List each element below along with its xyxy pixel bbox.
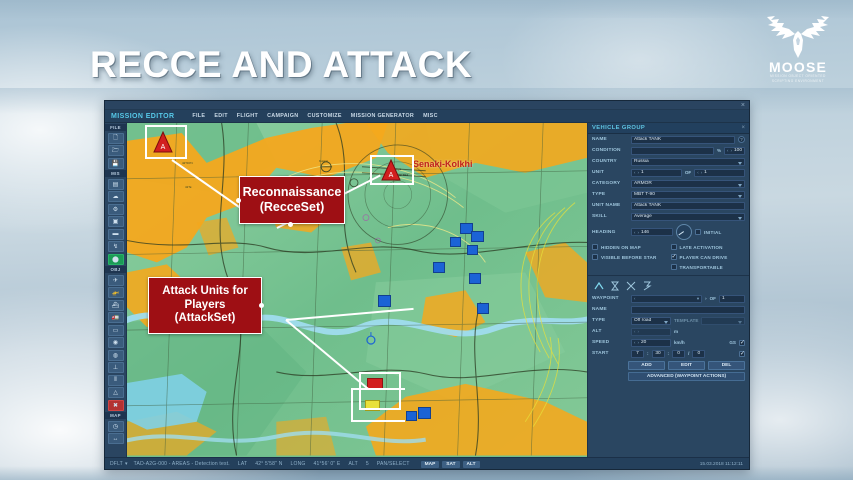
callout-attack-line-3: (AttackSet) xyxy=(175,312,236,326)
checkbox-player-can-drive[interactable] xyxy=(671,254,677,260)
map-grid-label-2: 41°E xyxy=(185,185,192,189)
app-brand-label: MISSION EDITOR xyxy=(111,113,174,120)
label-unit-of: OF xyxy=(685,170,691,175)
value-unit-index: 1 xyxy=(641,170,644,175)
remove-icon[interactable]: ✖ xyxy=(108,400,124,411)
del-button[interactable]: DEL xyxy=(708,361,745,370)
callout-recce-anchor-left xyxy=(236,198,241,203)
menu-bar: MISSION EDITOR FILE EDIT FLIGHT CAMPAIGN… xyxy=(105,110,749,123)
spinner-waypoint[interactable]: ‹ ▾ xyxy=(631,295,702,303)
unit-marker-blue-4[interactable] xyxy=(467,245,478,255)
select-country[interactable]: Russia xyxy=(631,158,745,166)
label-hidden-on-map: HIDDEN ON MAP xyxy=(601,245,641,250)
speed-right-arrow-icon[interactable]: › xyxy=(637,340,638,345)
field-row-condition: CONDITION % ‹ › 100 xyxy=(588,145,749,156)
label-waypoint-speed: SPEED xyxy=(592,340,628,345)
status-alt-value: 5 xyxy=(366,461,369,467)
slide-title: RECCE AND ATTACK xyxy=(90,44,472,86)
field-row-waypoint-start: START 7 : 30 : 0 / 0 xyxy=(588,348,749,359)
unit-total-right-arrow-icon[interactable]: › xyxy=(701,170,702,175)
select-type[interactable]: MBT T-90 xyxy=(631,191,745,199)
edit-button[interactable]: EDIT xyxy=(668,361,705,370)
field-row-waypoint-name: NAME xyxy=(588,304,749,315)
label-name: NAME xyxy=(592,137,628,142)
label-waypoint-start: START xyxy=(592,351,628,356)
svg-text:A: A xyxy=(389,172,394,179)
moose-antler-icon xyxy=(765,14,831,60)
menu-item-edit[interactable]: EDIT xyxy=(214,113,227,119)
spinner-waypoint-alt[interactable]: ‹ › xyxy=(631,328,671,336)
spinner-condition[interactable]: ‹ › 100 xyxy=(724,147,745,155)
unit-marker-blue-2[interactable] xyxy=(471,231,484,242)
unit-waypoint-speed: km/h xyxy=(674,340,685,345)
label-country: COUNTRY xyxy=(592,159,628,164)
place-label-senaki: Senaki-Kolkhi xyxy=(413,159,473,169)
label-unit-name: UNIT NAME xyxy=(592,203,628,208)
moose-logo: MOOSE MISSION OBJECT ORIENTED SCRIPTING … xyxy=(761,14,835,84)
label-type: TYPE xyxy=(592,192,628,197)
value-heading: 146 xyxy=(641,230,649,235)
field-row-waypoint: WAYPOINT ‹ ▾ › OF 1 xyxy=(588,293,749,304)
select-template[interactable] xyxy=(701,317,745,325)
status-alt-label: ALT xyxy=(348,461,357,467)
checkbox-row-1: HIDDEN ON MAP LATE ACTIVATION xyxy=(588,242,749,252)
help-icon[interactable]: ? xyxy=(738,136,745,143)
speed-left-arrow-icon[interactable]: ‹ xyxy=(634,340,635,345)
coalition-icon[interactable]: ▬ xyxy=(108,229,124,240)
status-long-value: 41°56' 0" E xyxy=(314,461,341,467)
start-colon-1: : xyxy=(647,351,649,356)
label-waypoint: WAYPOINT xyxy=(592,296,628,301)
map-airbase-tag: Kutaisi xyxy=(319,159,328,163)
spinner-waypoint-speed[interactable]: ‹ › 20 xyxy=(631,339,671,347)
unit-marker-blue-3[interactable] xyxy=(450,237,461,247)
checkbox-row-2: VISIBLE BEFORE STAR PLAYER CAN DRIVE xyxy=(588,252,749,262)
select-skill[interactable]: Average xyxy=(631,213,745,221)
panel-divider xyxy=(588,275,749,276)
field-row-waypoint-alt: ALT ‹ › m xyxy=(588,326,749,337)
ship-icon[interactable]: ⛴ xyxy=(108,300,124,311)
input-condition-bar[interactable] xyxy=(631,147,714,155)
menu-item-file[interactable]: FILE xyxy=(192,113,205,119)
label-skill: SKILL xyxy=(592,214,628,219)
vehicle-group-header: VEHICLE GROUP × xyxy=(588,123,749,134)
menu-item-customize[interactable]: CUSTOMIZE xyxy=(307,113,341,119)
spinner-heading[interactable]: ‹ › 146 xyxy=(631,228,673,236)
callout-attack-line-1: Attack Units for xyxy=(162,285,248,299)
view-button-alt[interactable]: ALT xyxy=(463,461,480,468)
field-row-category: CATEGORY ARMOR xyxy=(588,178,749,189)
toolbar-section-obj: OBJ xyxy=(105,266,126,273)
unit-marker-blue-5[interactable] xyxy=(433,262,445,273)
logo-wordmark: MOOSE xyxy=(761,61,835,74)
alt-right-arrow-icon[interactable]: › xyxy=(637,329,638,334)
map-grid-label-1: 42°00'N xyxy=(182,161,193,165)
heading-dial[interactable] xyxy=(676,224,692,240)
callout-reconnaissance: Reconnaissance (RecceSet) xyxy=(239,176,345,224)
heading-left-arrow-icon[interactable]: ‹ xyxy=(634,230,635,235)
train-icon[interactable]: ▭ xyxy=(108,325,124,336)
waypoint-right-arrow-icon[interactable]: › xyxy=(705,296,707,301)
checkbox-group-transportable[interactable]: TRANSPORTABLE xyxy=(671,264,746,270)
toolbar-section-mis: MIS xyxy=(105,170,126,177)
unit-marker-blue-6[interactable] xyxy=(469,273,481,284)
value-start-fraction[interactable]: 0 xyxy=(692,350,705,358)
label-waypoint-name: NAME xyxy=(592,307,628,312)
hourglass-icon[interactable] xyxy=(610,281,620,291)
select-waypoint-type[interactable]: Off road xyxy=(631,317,671,325)
field-row-name: NAME Attack TANK ? xyxy=(588,134,749,145)
unit-right-arrow-icon[interactable]: › xyxy=(637,170,638,175)
static-icon[interactable]: ◉ xyxy=(108,337,124,348)
briefing-icon[interactable]: ▤ xyxy=(108,179,124,190)
plane-icon[interactable]: ✈ xyxy=(108,275,124,286)
navigation-icon[interactable]: △ xyxy=(108,387,124,398)
status-bar: DFLT ▾ TAD-A2G-000 - AREAS - Detection t… xyxy=(105,457,749,470)
checkbox-row-3: TRANSPORTABLE xyxy=(588,262,749,272)
toolbar-section-map: MAP xyxy=(105,412,126,419)
unit-left-arrow-icon[interactable]: ‹ xyxy=(634,170,635,175)
value-start-seconds[interactable]: 0 xyxy=(672,350,685,358)
checkbox-group-player-can-drive[interactable]: PLAYER CAN DRIVE xyxy=(671,254,746,260)
checkbox-transportable[interactable] xyxy=(671,264,677,270)
checkbox-initial[interactable] xyxy=(695,229,701,235)
status-timestamp: 15.03.2018 11:12:11 xyxy=(700,462,743,467)
menu-item-misc[interactable]: MISC xyxy=(423,113,438,119)
unit-marker-blue-8[interactable] xyxy=(477,303,489,314)
callout-attack-anchor-right xyxy=(259,303,264,308)
vehicle-group-title: VEHICLE GROUP xyxy=(592,125,645,131)
unit-marker-red-recce[interactable]: A xyxy=(153,131,173,153)
sky-band-top xyxy=(0,0,853,18)
checkbox-group-visible-before-star[interactable]: VISIBLE BEFORE STAR xyxy=(592,254,667,260)
heading-right-arrow-icon[interactable]: › xyxy=(637,230,638,235)
label-visible-before-star: VISIBLE BEFORE STAR xyxy=(601,255,657,260)
callout-attack-units: Attack Units for Players (AttackSet) xyxy=(148,277,262,334)
airport-icon[interactable]: ⬤ xyxy=(108,254,124,265)
callout-recce-line-1: Reconnaissance xyxy=(243,185,342,200)
save-icon[interactable]: 💾 xyxy=(108,158,124,169)
input-name[interactable]: Attack TANK xyxy=(631,136,735,144)
start-slash: / xyxy=(688,351,689,356)
view-button-map[interactable]: MAP xyxy=(421,461,440,468)
checkbox-visible-before-star[interactable] xyxy=(592,254,598,260)
dflt-dropdown-icon[interactable]: ▾ xyxy=(125,461,128,467)
waypoint-toolbar xyxy=(588,279,749,293)
value-start-hours[interactable]: 7 xyxy=(631,350,644,358)
menu-item-flight[interactable]: FLIGHT xyxy=(237,113,258,119)
label-waypoint-of: OF xyxy=(710,296,716,301)
field-row-unit: UNIT ‹ › 1 OF ‹ › 1 xyxy=(588,167,749,178)
label-waypoint-alt: ALT xyxy=(592,329,628,334)
label-condition: CONDITION xyxy=(592,148,628,153)
label-initial: INITIAL xyxy=(704,230,721,235)
up-arrow-icon[interactable] xyxy=(594,281,604,291)
input-waypoint-name[interactable] xyxy=(631,306,745,314)
status-long-label: LONG xyxy=(291,461,306,467)
status-mission-name: TAD-A2G-000 - AREAS - Detection test. xyxy=(134,461,230,467)
select-category[interactable]: ARMOR xyxy=(631,180,745,188)
window-titlebar: × xyxy=(105,101,749,110)
checkbox-group-hidden-on-map[interactable]: HIDDEN ON MAP xyxy=(592,244,667,250)
field-row-unit-name: UNIT NAME Attack TANK xyxy=(588,200,749,211)
new-icon[interactable]: 🗋 xyxy=(108,133,124,144)
field-row-waypoint-speed: SPEED ‹ › 20 km/h GS xyxy=(588,337,749,348)
value-start-minutes[interactable]: 30 xyxy=(652,350,665,358)
checkbox-late-activation[interactable] xyxy=(671,244,677,250)
value-waypoint-total: 1 xyxy=(719,295,745,303)
label-unit: UNIT xyxy=(592,170,628,175)
field-row-heading: HEADING ‹ › 146 INITIAL xyxy=(588,222,749,242)
unit-total-left-arrow-icon[interactable]: ‹ xyxy=(697,170,698,175)
spinner-right-arrow-icon[interactable]: › xyxy=(731,148,732,153)
unit-marker-blue-attack-2[interactable] xyxy=(418,407,431,419)
left-toolbar: FILE 🗋 🗁 💾 MIS ▤ ☁ ⚙ ▣ ▬ ↯ ⬤ OBJ ✈ 🚁 ⛴ 🚛… xyxy=(105,123,127,457)
view-button-sat[interactable]: SAT xyxy=(442,461,459,468)
field-row-skill: SKILL Average xyxy=(588,211,749,222)
menu-item-campaign[interactable]: CAMPAIGN xyxy=(267,113,298,119)
alt-left-arrow-icon[interactable]: ‹ xyxy=(634,329,635,334)
scissors-icon[interactable] xyxy=(626,281,636,291)
logo-tagline: MISSION OBJECT ORIENTED SCRIPTING ENVIRO… xyxy=(761,74,835,84)
template-icon[interactable]: ⦀ xyxy=(108,375,124,386)
helicopter-icon[interactable]: 🚁 xyxy=(108,287,124,298)
window-close-icon[interactable]: × xyxy=(741,101,745,110)
status-dflt[interactable]: DFLT xyxy=(110,461,123,467)
waypoint-left-arrow-icon[interactable]: ‹ xyxy=(634,296,635,301)
open-icon[interactable]: 🗁 xyxy=(108,145,124,156)
status-mode: PAN/SELECT xyxy=(377,461,410,467)
label-template: TEMPLATE xyxy=(674,318,698,323)
status-lat-value: 42° 5'58" N xyxy=(255,461,282,467)
warehouse-icon[interactable]: ⊥ xyxy=(108,362,124,373)
triggers-icon[interactable]: ↯ xyxy=(108,241,124,252)
callout-recce-line-2: (RecceSet) xyxy=(260,200,325,215)
label-heading: HEADING xyxy=(592,230,628,235)
ruler-icon[interactable]: ↔ xyxy=(108,433,124,444)
weather-icon[interactable]: ☁ xyxy=(108,191,124,202)
unit-waypoint-alt: m xyxy=(674,329,678,334)
label-gs: GS xyxy=(729,340,736,345)
spinner-unit-index[interactable]: ‹ › 1 xyxy=(631,169,682,177)
unit-marker-blue-attack-1[interactable] xyxy=(406,411,417,421)
unit-marker-blue-7[interactable] xyxy=(378,295,391,307)
svg-text:A: A xyxy=(161,144,166,151)
field-row-type: TYPE MBT T-90 xyxy=(588,189,749,200)
field-row-country: COUNTRY Russia xyxy=(588,156,749,167)
start-colon-2: : xyxy=(668,351,670,356)
failures-icon[interactable]: ⚙ xyxy=(108,204,124,215)
waypoint-button-row: ADD EDIT DEL xyxy=(588,359,749,370)
vehicle-icon[interactable]: 🚛 xyxy=(108,312,124,323)
cargo-icon[interactable]: ◍ xyxy=(108,350,124,361)
menu-item-mission-generator[interactable]: MISSION GENERATOR xyxy=(351,113,414,119)
unit-percent: % xyxy=(717,148,721,153)
right-properties-panel: VEHICLE GROUP × NAME Attack TANK ? CONDI… xyxy=(587,123,749,457)
label-player-can-drive: PLAYER CAN DRIVE xyxy=(680,255,728,260)
label-late-activation: LATE ACTIVATION xyxy=(680,245,723,250)
checkbox-start[interactable] xyxy=(739,351,745,357)
input-unit-name[interactable]: Attack TANK xyxy=(631,202,745,210)
options-icon[interactable]: ▣ xyxy=(108,216,124,227)
value-condition: 100 xyxy=(734,148,742,153)
spinner-unit-total[interactable]: ‹ › 1 xyxy=(694,169,745,177)
value-waypoint-speed: 20 xyxy=(641,340,646,345)
flag-icon[interactable] xyxy=(642,281,652,291)
label-transportable: TRANSPORTABLE xyxy=(680,265,723,270)
callout-attack-line-2: Players xyxy=(185,299,226,313)
checkbox-gs[interactable] xyxy=(739,340,745,346)
waypoint-dropdown-icon[interactable]: ▾ xyxy=(697,296,699,302)
label-category: CATEGORY xyxy=(592,181,628,186)
checkbox-group-late-activation[interactable]: LATE ACTIVATION xyxy=(671,244,746,250)
value-unit-total: 1 xyxy=(704,170,707,175)
callout-recce-anchor-bottom xyxy=(288,222,293,227)
advanced-waypoint-actions-button[interactable]: ADVANCED (WAYPOINT ACTIONS) xyxy=(628,372,745,381)
toolbar-section-file: FILE xyxy=(105,124,126,131)
label-waypoint-type: TYPE xyxy=(592,318,628,323)
field-row-waypoint-type: TYPE Off road TEMPLATE xyxy=(588,315,749,326)
add-button[interactable]: ADD xyxy=(628,361,665,370)
status-lat-label: LAT xyxy=(238,461,247,467)
selection-bracket-attack-units[interactable] xyxy=(351,388,405,422)
unit-marker-red-airbase[interactable]: A xyxy=(381,159,401,181)
vehicle-group-close-icon[interactable]: × xyxy=(741,125,745,131)
measure-icon[interactable]: ◷ xyxy=(108,421,124,432)
spinner-left-arrow-icon[interactable]: ‹ xyxy=(727,148,728,153)
checkbox-hidden-on-map[interactable] xyxy=(592,244,598,250)
